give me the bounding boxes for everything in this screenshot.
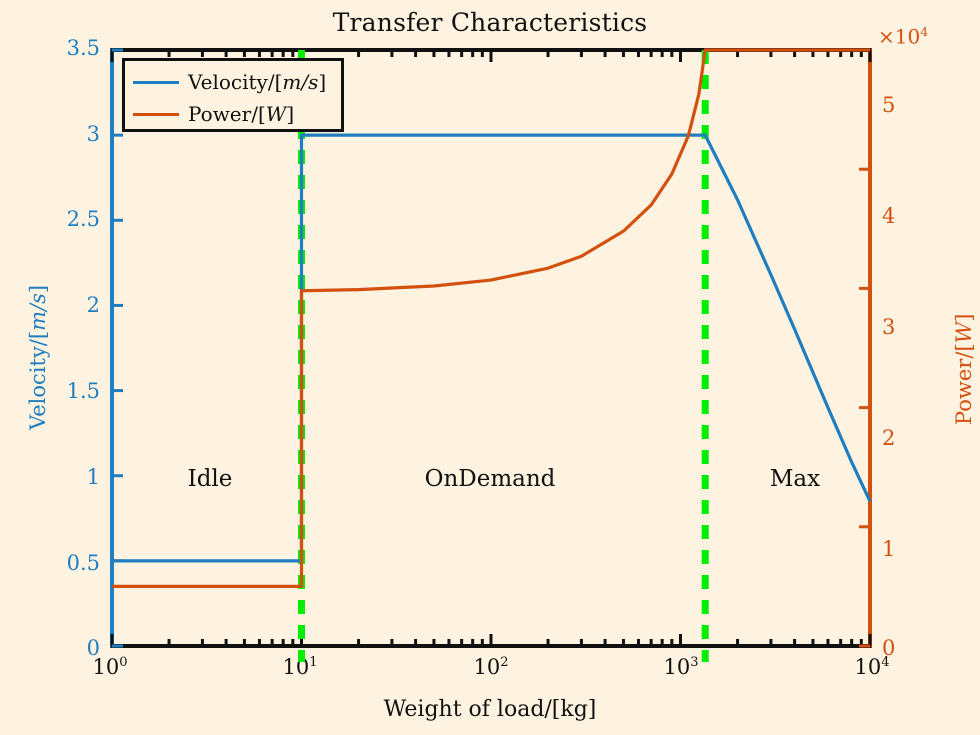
legend-label-power: Power/[W] [188,102,294,126]
legend-item-velocity: Velocity/[m/s] [133,66,333,98]
chart-root: Transfer Characteristics 3.5 3 2.5 2 1.5… [0,0,980,735]
legend-label-power-text: Power/ [188,102,258,126]
legend-label-velocity-text: Velocity/ [188,70,275,94]
chart-legend: Velocity/[m/s] Power/[W] [122,58,344,132]
legend-item-power: Power/[W] [133,98,333,130]
legend-swatch-velocity [133,81,179,84]
legend-swatch-power [133,113,179,116]
legend-label-velocity-unit: m/s [282,70,318,94]
region-dividers [302,50,706,662]
axis-ticks [112,50,870,646]
legend-label-velocity: Velocity/[m/s] [188,70,326,94]
legend-label-power-unit: W [266,102,287,126]
